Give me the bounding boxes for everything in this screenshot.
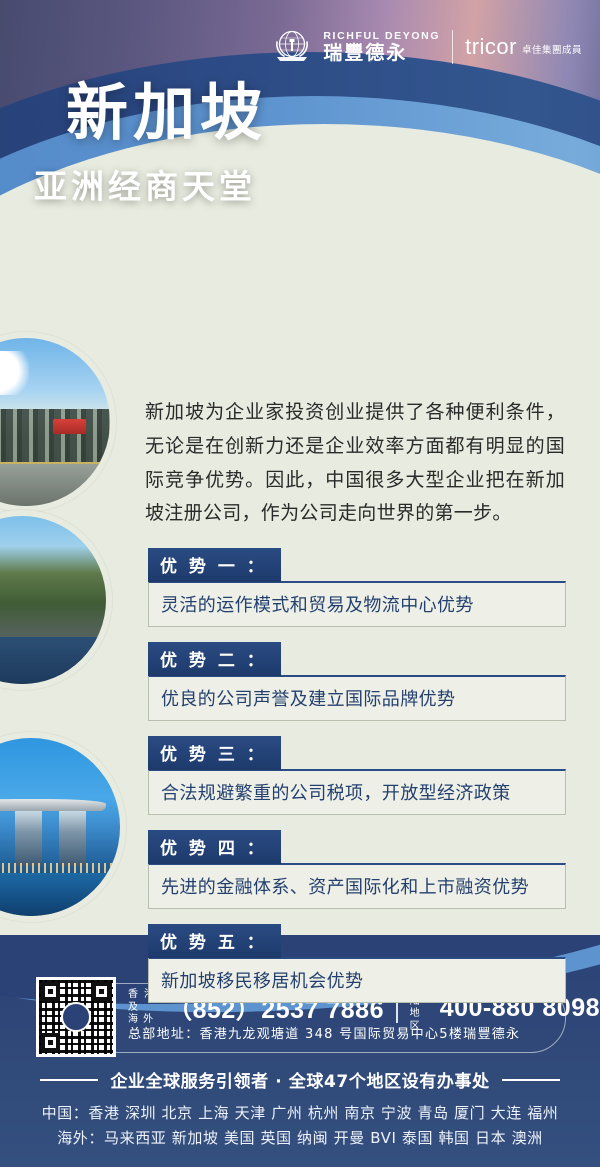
regions-international: 海外：马来西亚 新加坡 美国 英国 纳闽 开曼 BVI 泰国 韩国 日本 澳洲 [0, 1126, 600, 1151]
qr-center-logo [61, 1002, 91, 1032]
partner-name: tricor [465, 36, 517, 58]
richful-deyong-crest-icon [271, 26, 313, 68]
slogan-row: 企业全球服务引领者 · 全球47个地区设有办事处 [0, 1067, 600, 1092]
advantage-badge-5: 优 势 五 ： [148, 924, 281, 958]
partner-brand-block: tricor 卓佳集團成員 [465, 36, 582, 58]
headquarters-address: 总部地址：香港九龙观塘道 348 号国际贸易中心5楼瑞豐德永 [128, 1023, 520, 1042]
brand-name-en: RICHFUL DEYONG [323, 31, 440, 42]
advantage-badge-3: 优 势 三 ： [148, 736, 281, 770]
logo-divider [452, 30, 453, 64]
advantage-item-5: 优 势 五 ： 新加坡移民移居机会优势 [148, 924, 566, 1003]
slogan-rule-right [502, 1079, 560, 1081]
poster-root: RICHFUL DEYONG 瑞豐德永 tricor 卓佳集團成員 新加坡 亚洲… [0, 0, 600, 1167]
advantages-list: 优 势 一 ： 灵活的运作模式和贸易及物流中心优势 优 势 二 ： 优良的公司声… [148, 548, 566, 1018]
company-slogan: 企业全球服务引领者 · 全球47个地区设有办事处 [110, 1067, 489, 1092]
riverside-street-photo [0, 516, 106, 684]
advantage-text-1: 灵活的运作模式和贸易及物流中心优势 [148, 581, 566, 627]
intro-paragraph: 新加坡为企业家投资创业提供了各种便利条件，无论是在创新力还是企业效率方面都有明显… [145, 396, 565, 531]
bay-water [0, 873, 120, 916]
advantage-item-2: 优 势 二 ： 优良的公司声誉及建立国际品牌优势 [148, 642, 566, 721]
brand-logo-bar: RICHFUL DEYONG 瑞豐德永 tricor 卓佳集團成員 [271, 26, 582, 68]
wechat-qr-code[interactable] [36, 977, 116, 1057]
advantage-text-2: 优良的公司声誉及建立国际品牌优势 [148, 675, 566, 721]
marina-bay-sands-photo [0, 738, 120, 916]
brand-name-block: RICHFUL DEYONG 瑞豐德永 [323, 31, 440, 64]
qr-finder-bottom-left [41, 1033, 60, 1052]
brand-name-cn: 瑞豐德永 [323, 44, 440, 63]
regions-china: 中国：香港 深圳 北京 上海 天津 广州 杭州 南京 宁波 青岛 厦门 大连 福… [0, 1101, 600, 1126]
shophouse-street-photo [0, 338, 110, 506]
advantage-badge-1: 优 势 一 ： [148, 548, 281, 582]
advantage-item-4: 优 势 四 ： 先进的金融体系、资产国际化和上市融资优势 [148, 830, 566, 909]
advantage-text-4: 先进的金融体系、资产国际化和上市融资优势 [148, 863, 566, 909]
poster-subtitle: 亚洲经商天堂 [34, 166, 256, 207]
advantage-text-3: 合法规避繁重的公司税项，开放型经济政策 [148, 769, 566, 815]
partner-name-cn: 卓佳集團成員 [522, 42, 582, 58]
office-regions: 中国：香港 深圳 北京 上海 天津 广州 杭州 南京 宁波 青岛 厦门 大连 福… [0, 1101, 600, 1151]
advantage-item-3: 优 势 三 ： 合法规避繁重的公司税项，开放型经济政策 [148, 736, 566, 815]
advantage-text-5: 新加坡移民移居机会优势 [148, 957, 566, 1003]
advantage-badge-2: 优 势 二 ： [148, 642, 281, 676]
qr-finder-top-right [92, 982, 111, 1001]
skypark-deck [0, 799, 106, 811]
advantage-badge-4: 优 势 四 ： [148, 830, 281, 864]
advantage-item-1: 优 势 一 ： 灵活的运作模式和贸易及物流中心优势 [148, 548, 566, 627]
poster-title: 新加坡 [66, 82, 267, 144]
slogan-rule-left [40, 1079, 98, 1081]
awning-decoration [53, 419, 87, 434]
cloud-decoration [0, 351, 29, 395]
qr-finder-top-left [41, 982, 60, 1001]
